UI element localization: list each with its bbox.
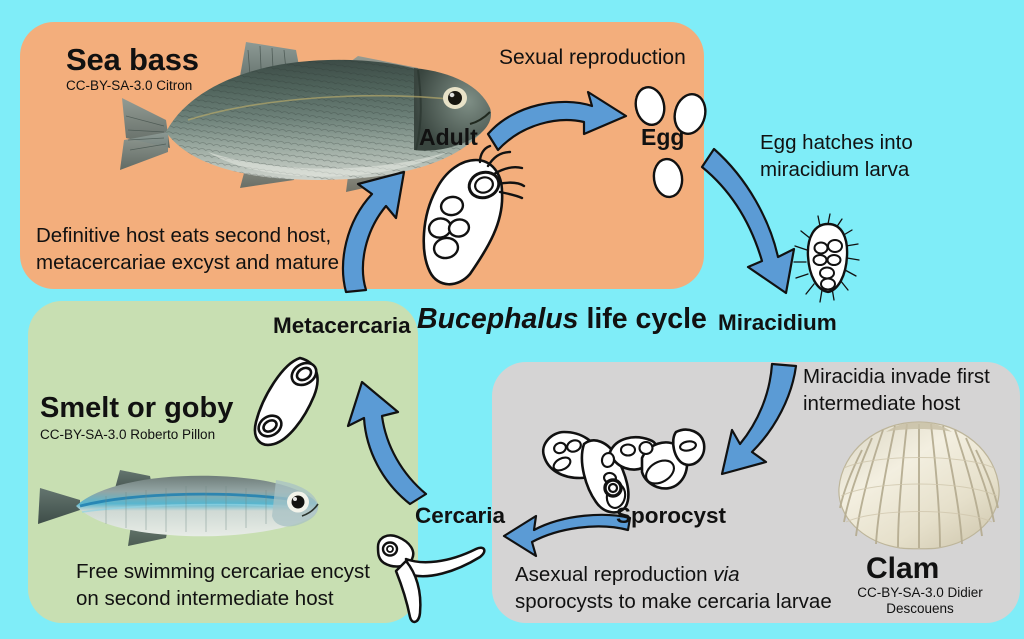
smelt-or-goby-title: Smelt or goby xyxy=(40,392,233,425)
caption-definitive-host: Definitive host eats second host, metace… xyxy=(36,222,339,276)
adult-fluke-drawing xyxy=(414,152,544,292)
stage-label-miracidium: Miracidium xyxy=(718,310,837,336)
clam-credit: CC-BY-SA-3.0 Didier Descouens xyxy=(846,585,994,616)
sea-bass-title: Sea bass xyxy=(66,42,199,78)
diagram-title-genus: Bucephalus xyxy=(417,303,579,335)
cercaria-drawing xyxy=(372,525,497,630)
caption-miracidia-invade: Miracidia invade first intermediate host xyxy=(803,363,990,417)
caption-asexual-reproduction: Asexual reproduction via sporocysts to m… xyxy=(515,561,832,615)
smelt-or-goby-credit: CC-BY-SA-3.0 Roberto Pillon xyxy=(40,427,215,442)
diagram-title-rest: life cycle xyxy=(579,303,707,335)
stage-label-metacercaria: Metacercaria xyxy=(273,313,411,339)
stage-label-egg: Egg xyxy=(641,124,684,151)
stage-label-adult: Adult xyxy=(419,124,478,151)
caption-asexual-via: via xyxy=(713,563,739,586)
arrow-adult-to-egg xyxy=(484,88,634,158)
caption-asexual-part-b: sporocysts to make cercaria larvae xyxy=(515,590,832,613)
stage-label-sporocyst: Sporocyst xyxy=(616,503,726,529)
clam-photo xyxy=(834,418,1004,553)
process-egg-hatches: Egg hatches into miracidium larva xyxy=(760,129,913,183)
diagram-title: Bucephalus life cycle xyxy=(417,303,707,336)
caption-free-swimming: Free swimming cercariae encyst on second… xyxy=(76,558,370,612)
life-cycle-diagram: Sea bass CC-BY-SA-3.0 Citron Smelt or go… xyxy=(0,0,1024,639)
clam-title: Clam xyxy=(866,552,939,586)
caption-asexual-part-a: Asexual reproduction xyxy=(515,563,713,586)
stage-label-cercaria: Cercaria xyxy=(415,503,505,529)
sea-bass-credit: CC-BY-SA-3.0 Citron xyxy=(66,78,192,93)
arrow-metacercaria-to-adult xyxy=(330,166,430,296)
process-sexual-reproduction: Sexual reproduction xyxy=(499,46,686,70)
smelt-photo xyxy=(36,462,326,552)
metacercaria-drawing xyxy=(248,352,343,457)
arrow-cercaria-to-metacercaria xyxy=(332,368,442,508)
arrow-miracidium-to-sporocyst xyxy=(700,362,820,492)
